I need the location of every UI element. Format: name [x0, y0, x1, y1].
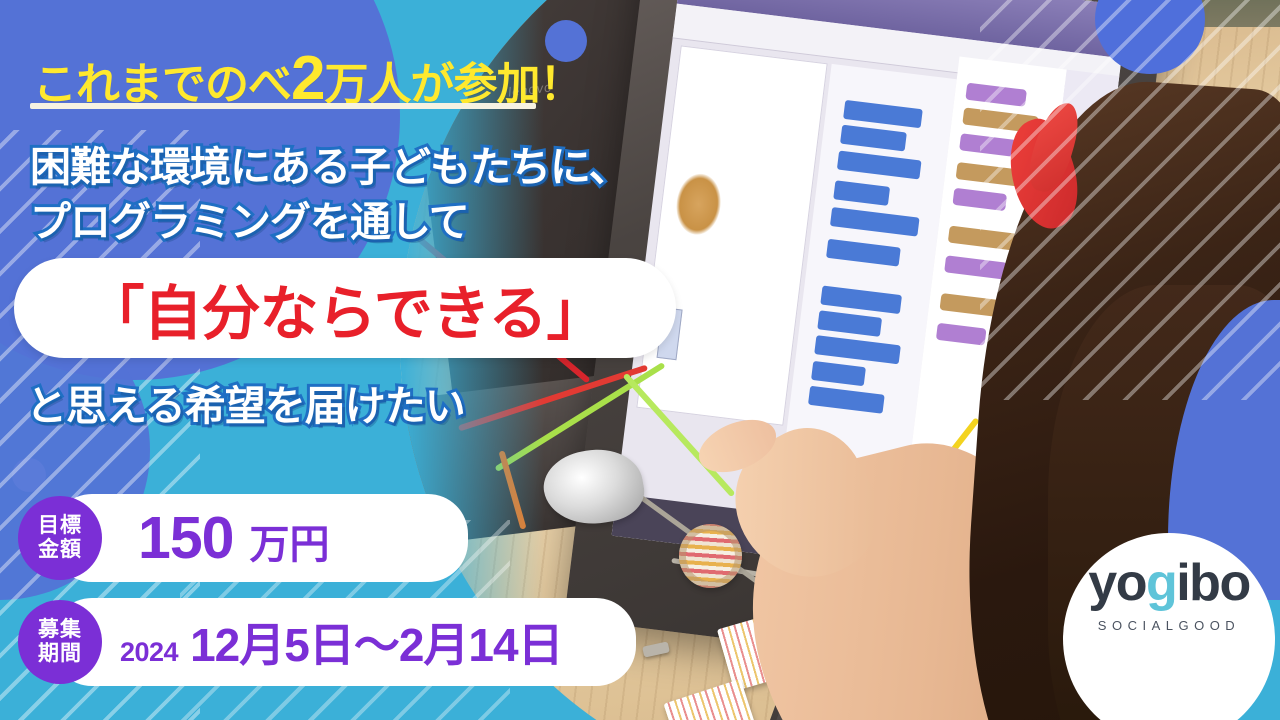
yogibo-tagline: SOCIALGOOD — [1098, 618, 1240, 633]
washi-tape-roll — [675, 520, 746, 593]
alligator-clip-green — [841, 534, 866, 561]
wire-grey-2 — [632, 490, 781, 600]
period-year: 2024 — [120, 637, 178, 668]
scratch-cat-sprite — [673, 171, 724, 238]
lede-text: 困難な環境にある子どもたちに、 プログラミングを通して — [30, 140, 629, 250]
lede-line-1: 困難な環境にある子どもたちに、 — [30, 140, 629, 195]
paper-ruler — [939, 452, 1095, 568]
goal-unit: 万円 — [249, 512, 329, 570]
period-values: 2024 12月5日〜2月14日 — [120, 609, 563, 675]
scratch-menubar — [676, 0, 1128, 58]
wire-green-3 — [883, 460, 1051, 576]
laptop-screen — [611, 0, 1128, 590]
logo-word-pre: yo — [1088, 554, 1146, 612]
lede-line-2: プログラミングを通して — [30, 195, 629, 250]
logo-word-accent: g — [1146, 554, 1176, 612]
craft-card-3 — [874, 520, 960, 583]
goal-badge-line-1: 目標 — [38, 514, 82, 538]
kicker-prefix: これまでのべ — [33, 60, 291, 109]
decor-dot-left — [12, 458, 46, 492]
outro-text: と思える希望を届けたい — [26, 372, 465, 432]
period-badge: 募集 期間 — [18, 600, 102, 684]
period-badge-line-1: 募集 — [38, 618, 82, 642]
scratch-toolbar — [672, 3, 1122, 93]
alligator-clip-orange — [994, 508, 1021, 533]
goal-amount-row: 目標 金額 150 万円 — [18, 494, 468, 582]
quote-text: 「自分ならできる」 — [85, 266, 604, 351]
kicker-underline — [30, 103, 536, 109]
wire-orange-1 — [498, 450, 526, 530]
alligator-clip-silver — [642, 641, 670, 657]
alligator-clip-red — [762, 580, 785, 608]
wire-green-2 — [623, 373, 736, 497]
scratch-sprite-pane — [1012, 69, 1120, 520]
foil-ball — [538, 442, 648, 532]
yogibo-wordmark: yogibo — [1088, 557, 1249, 609]
scratch-stage — [636, 45, 828, 425]
craft-card-1 — [717, 605, 821, 692]
craft-card-2 — [801, 554, 890, 622]
kicker-suffix: 万人が参加！ — [324, 60, 582, 109]
goal-badge-line-2: 金額 — [38, 538, 82, 562]
scratch-block-palette — [908, 56, 1067, 490]
goal-amount: 150 — [138, 504, 233, 572]
period-dates: 12月5日〜2月14日 — [190, 609, 563, 675]
yogibo-logo: yogibo SOCIALGOOD — [1063, 533, 1275, 720]
wire-red-4 — [909, 549, 1061, 615]
child-arm — [718, 419, 1108, 720]
hair-ribbon-loop — [1023, 97, 1085, 196]
hair-ribbon — [996, 112, 1090, 236]
quote-pill: 「自分ならできる」 — [14, 258, 676, 358]
wire-red-2 — [458, 365, 648, 432]
wire-grey-1 — [671, 558, 938, 605]
goal-badge: 目標 金額 — [18, 496, 102, 580]
banner-stage: lenovo — [0, 0, 1280, 720]
wire-green-1 — [494, 362, 665, 472]
craft-card-4 — [663, 678, 757, 720]
scratch-script-area — [780, 64, 956, 500]
pointing-finger — [691, 409, 783, 482]
taskbar — [611, 494, 1062, 590]
alligator-clip-yellow — [949, 516, 975, 542]
logo-word-post: ibo — [1176, 554, 1249, 612]
wire-red-3 — [776, 493, 979, 579]
wire-yellow-1 — [864, 417, 980, 563]
period-badge-line-2: 期間 — [38, 642, 82, 666]
period-row: 募集 期間 2024 12月5日〜2月14日 — [18, 598, 636, 686]
child-hand — [711, 409, 899, 602]
goal-values: 150 万円 — [138, 504, 329, 572]
wrist-bracelet — [961, 551, 1071, 635]
